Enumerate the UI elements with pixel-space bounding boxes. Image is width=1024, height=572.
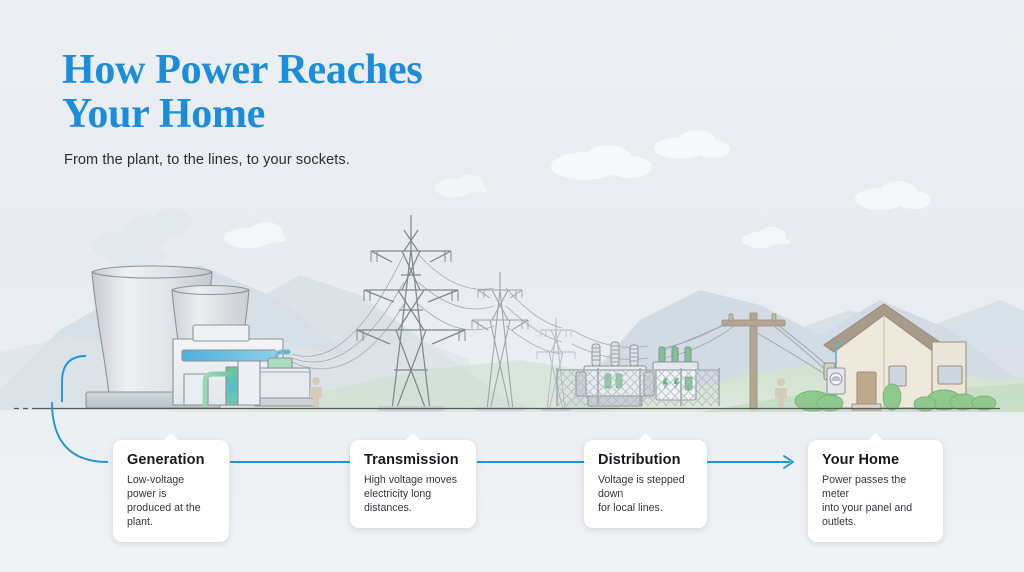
stage-card-title: Your Home <box>822 452 929 468</box>
substation-fence <box>556 368 720 406</box>
stage-card-body: High voltage moves electricity long dist… <box>364 473 462 515</box>
stage-card-generation[interactable]: Generation Low-voltage power is produced… <box>113 440 229 542</box>
page-subtitle: From the plant, to the lines, to your so… <box>64 152 422 168</box>
stage-card-title: Distribution <box>598 452 693 468</box>
stage-card-distribution[interactable]: Distribution Voltage is stepped down for… <box>584 440 707 528</box>
stage-card-title: Generation <box>127 452 215 468</box>
stage-card-title: Transmission <box>364 452 462 468</box>
stage-card-transmission[interactable]: Transmission High voltage moves electric… <box>350 440 476 528</box>
steam-plume <box>92 208 192 269</box>
infographic-root: How Power Reaches Your Home From the pla… <box>0 0 1024 572</box>
stage-card-body: Power passes the meter into your panel a… <box>822 473 929 529</box>
page-title: How Power Reaches Your Home <box>62 48 422 136</box>
header-block: How Power Reaches Your Home From the pla… <box>62 48 422 168</box>
stage-card-your-home[interactable]: Your Home Power passes the meter into yo… <box>808 440 943 542</box>
stage-card-body: Low-voltage power is produced at the pla… <box>127 473 215 529</box>
stage-card-body: Voltage is stepped down for local lines. <box>598 473 693 515</box>
